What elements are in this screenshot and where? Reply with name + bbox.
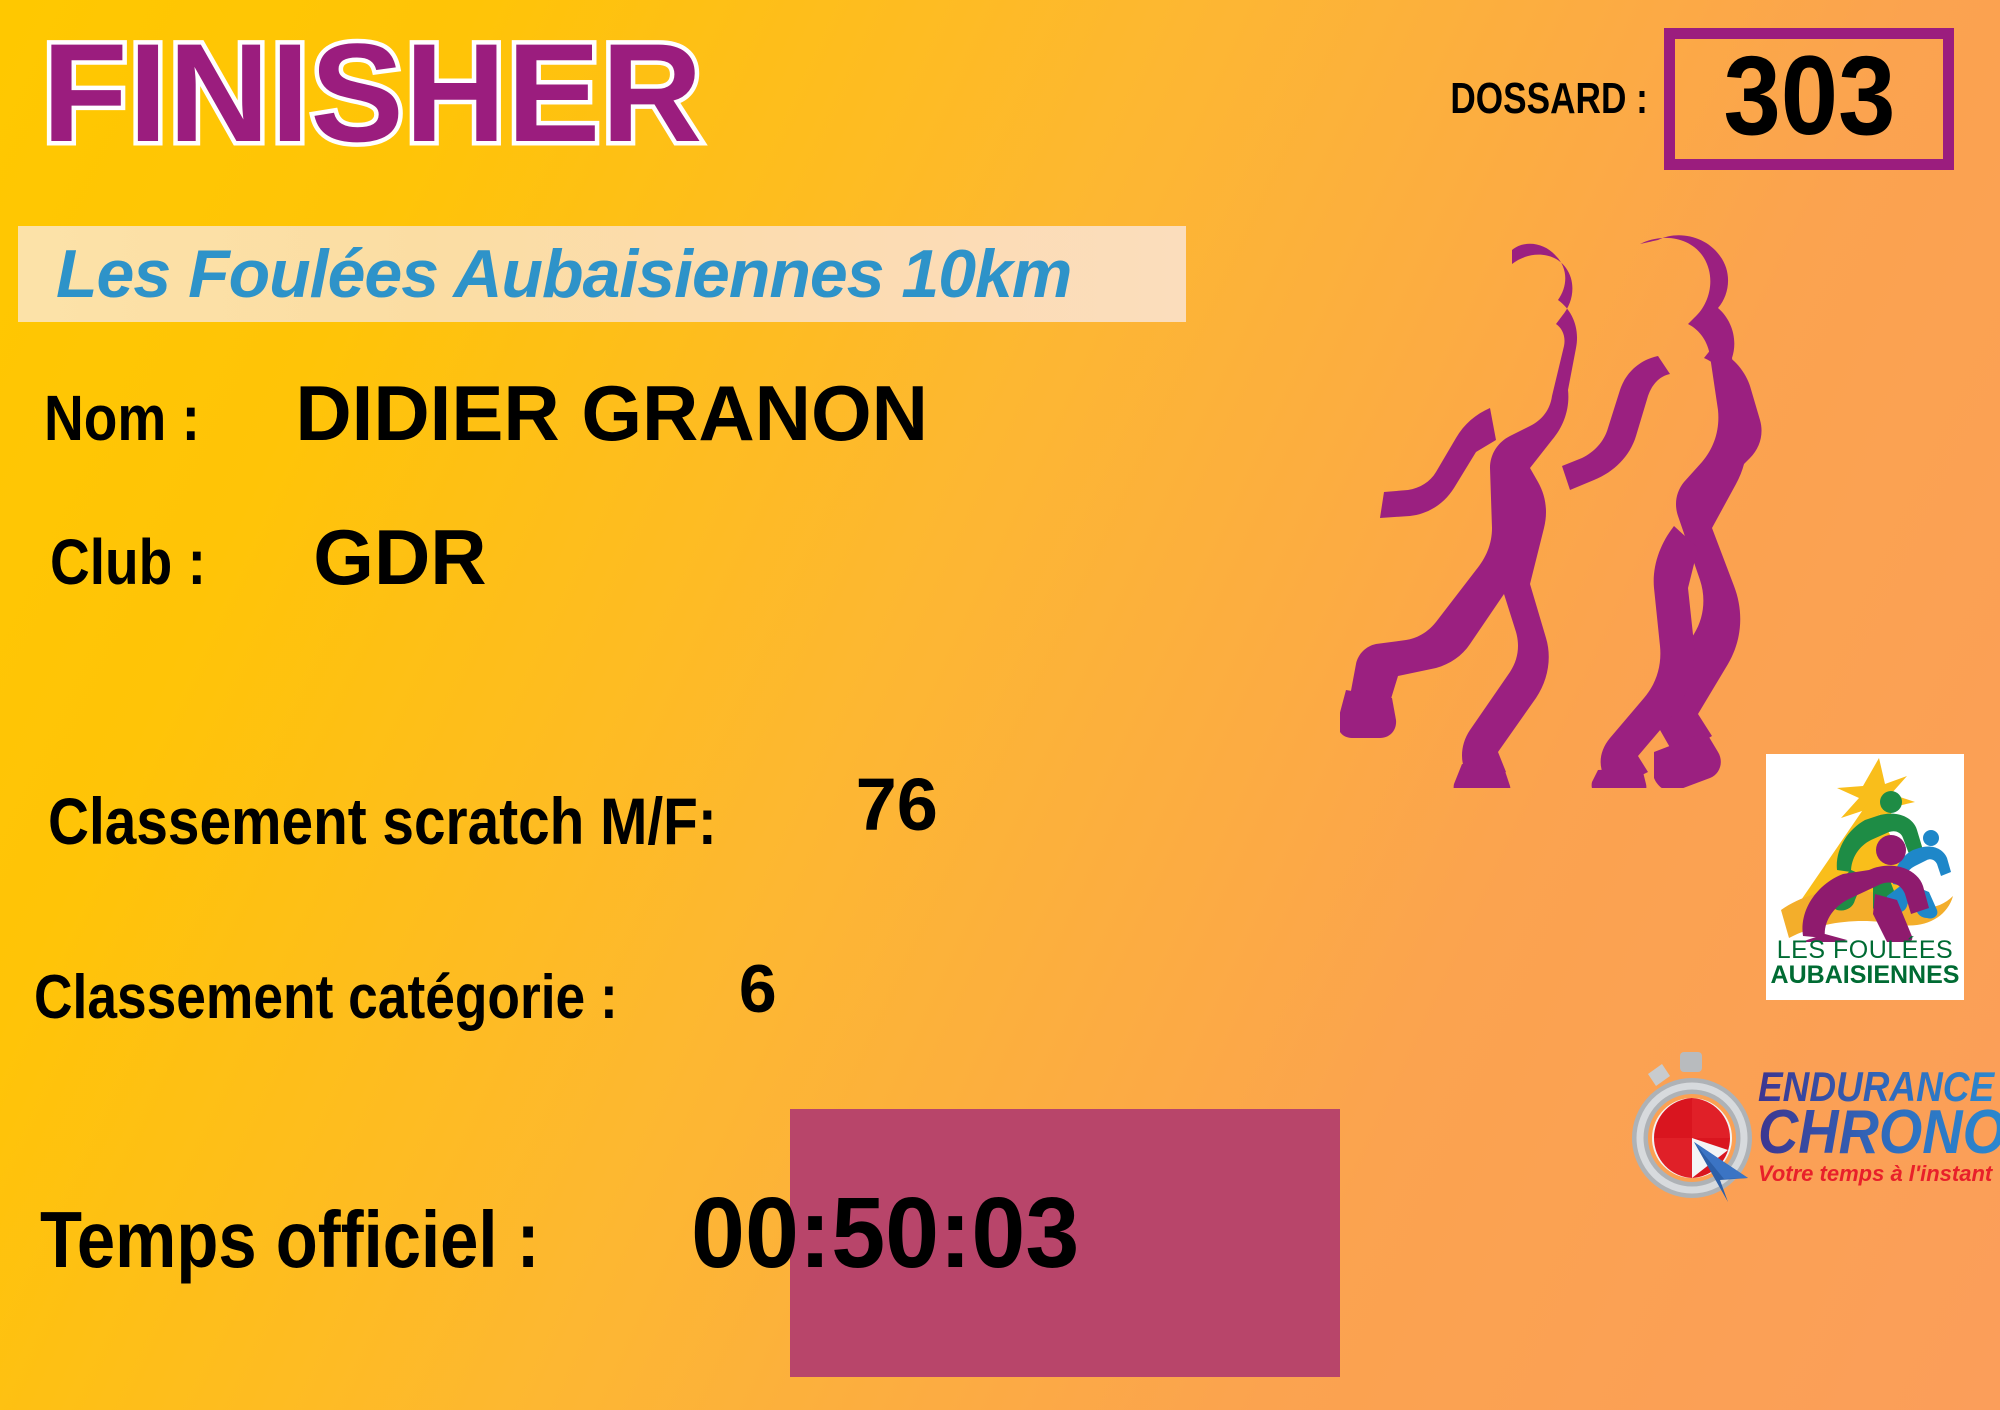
page-title: FINISHER <box>42 18 703 168</box>
foulees-aubaisiennes-logo: LES FOULÉES AUBAISIENNES <box>1766 754 1964 1000</box>
endurance-chrono-line2: CHRONO <box>1758 1106 2000 1161</box>
foulees-logo-line1: LES FOULÉES <box>1771 938 1960 963</box>
club-value: GDR <box>313 512 486 603</box>
official-time-value: 00:50:03 <box>691 1176 1079 1291</box>
category-ranking-label: Classement catégorie : <box>34 962 618 1033</box>
scratch-ranking-value: 76 <box>856 762 938 847</box>
endurance-chrono-logo: ENDURANCE CHRONO Votre temps à l'instant… <box>1632 1042 2000 1210</box>
category-ranking-row: Classement catégorie : 6 <box>34 956 777 1034</box>
race-title: Les Foulées Aubaisiennes 10km <box>18 235 1071 313</box>
foulees-logo-line2: AUBAISIENNES <box>1771 963 1960 988</box>
race-title-banner: Les Foulées Aubaisiennes 10km <box>18 226 1186 322</box>
foulees-logo-text: LES FOULÉES AUBAISIENNES <box>1771 938 1960 988</box>
scratch-ranking-label: Classement scratch M/F: <box>48 783 717 859</box>
dossard-group: DOSSARD : 303 <box>1401 28 1954 170</box>
club-label: Club : <box>50 525 206 599</box>
foulees-star-runners-icon <box>1767 754 1963 942</box>
endurance-chrono-tagline: Votre temps à l'instant T <box>1758 1164 2000 1183</box>
finisher-certificate-card: FINISHER DOSSARD : 303 Les Foulées Aubai… <box>0 0 2000 1410</box>
nom-label: Nom : <box>44 381 200 455</box>
club-row: Club : GDR <box>50 512 487 603</box>
nom-value: DIDIER GRANON <box>295 368 928 459</box>
nom-row: Nom : DIDIER GRANON <box>44 368 928 459</box>
endurance-chrono-text: ENDURANCE CHRONO Votre temps à l'instant… <box>1758 1069 2000 1184</box>
official-time-label: Temps officiel : <box>40 1194 540 1286</box>
scratch-ranking-row: Classement scratch M/F: 76 <box>48 776 938 861</box>
stopwatch-icon <box>1632 1050 1754 1202</box>
runners-silhouette-icon <box>1340 228 1860 788</box>
category-ranking-value: 6 <box>739 950 777 1028</box>
dossard-label: DOSSARD : <box>1450 74 1648 124</box>
official-time-row: Temps officiel : 00:50:03 <box>40 1176 1085 1291</box>
dossard-box: 303 <box>1664 28 1954 170</box>
dossard-number: 303 <box>1723 40 1895 152</box>
